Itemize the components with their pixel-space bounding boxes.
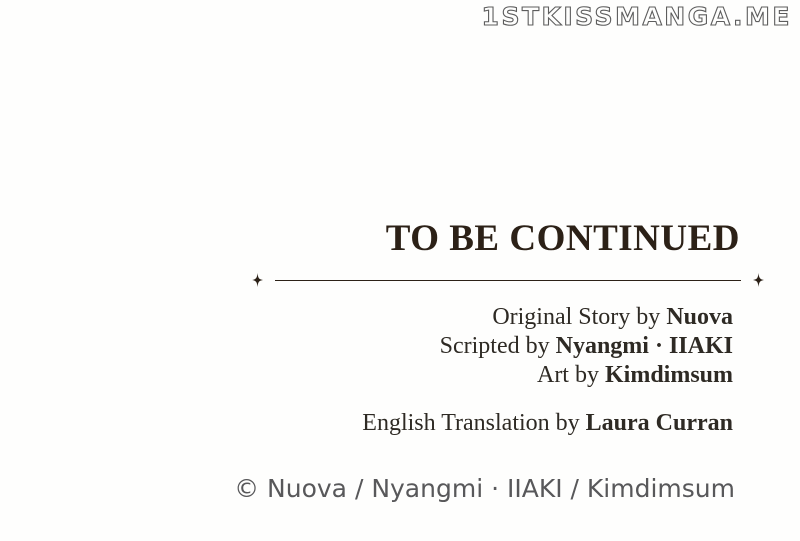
credit-role-label: Scripted by bbox=[440, 333, 556, 359]
credit-original-story: Original Story by Nuova bbox=[0, 303, 733, 332]
credit-english-translation: English Translation by Laura Curran bbox=[0, 409, 733, 438]
credit-role-label: Art by bbox=[537, 362, 605, 388]
to-be-continued-block: TO BE CONTINUED bbox=[0, 218, 800, 260]
credit-role-label: English Translation by bbox=[362, 410, 585, 436]
credit-role-label: Original Story by bbox=[492, 304, 666, 330]
four-point-star-icon-right bbox=[753, 273, 764, 287]
site-watermark: 1STKISSMANGA.ME bbox=[482, 2, 792, 32]
four-point-star-icon-left bbox=[252, 273, 263, 287]
divider-rule bbox=[275, 280, 741, 281]
credit-scripted-by: Scripted by Nyangmi · IIAKI bbox=[0, 332, 733, 361]
credit-person-name: Nuova bbox=[666, 304, 733, 330]
credit-art-by: Art by Kimdimsum bbox=[0, 361, 733, 390]
comic-end-page: 1STKISSMANGA.ME TO BE CONTINUED Original… bbox=[0, 0, 800, 541]
credit-person-name: Kimdimsum bbox=[605, 362, 733, 388]
ornamental-divider bbox=[252, 272, 764, 288]
credit-person-name: Nyangmi · IIAKI bbox=[556, 333, 733, 359]
to-be-continued-title: TO BE CONTINUED bbox=[0, 218, 800, 260]
credits-list: Original Story by Nuova Scripted by Nyan… bbox=[0, 303, 733, 438]
copyright-line: © Nuova / Nyangmi · IIAKI / Kimdimsum bbox=[0, 474, 735, 504]
credit-person-name: Laura Curran bbox=[586, 410, 733, 436]
